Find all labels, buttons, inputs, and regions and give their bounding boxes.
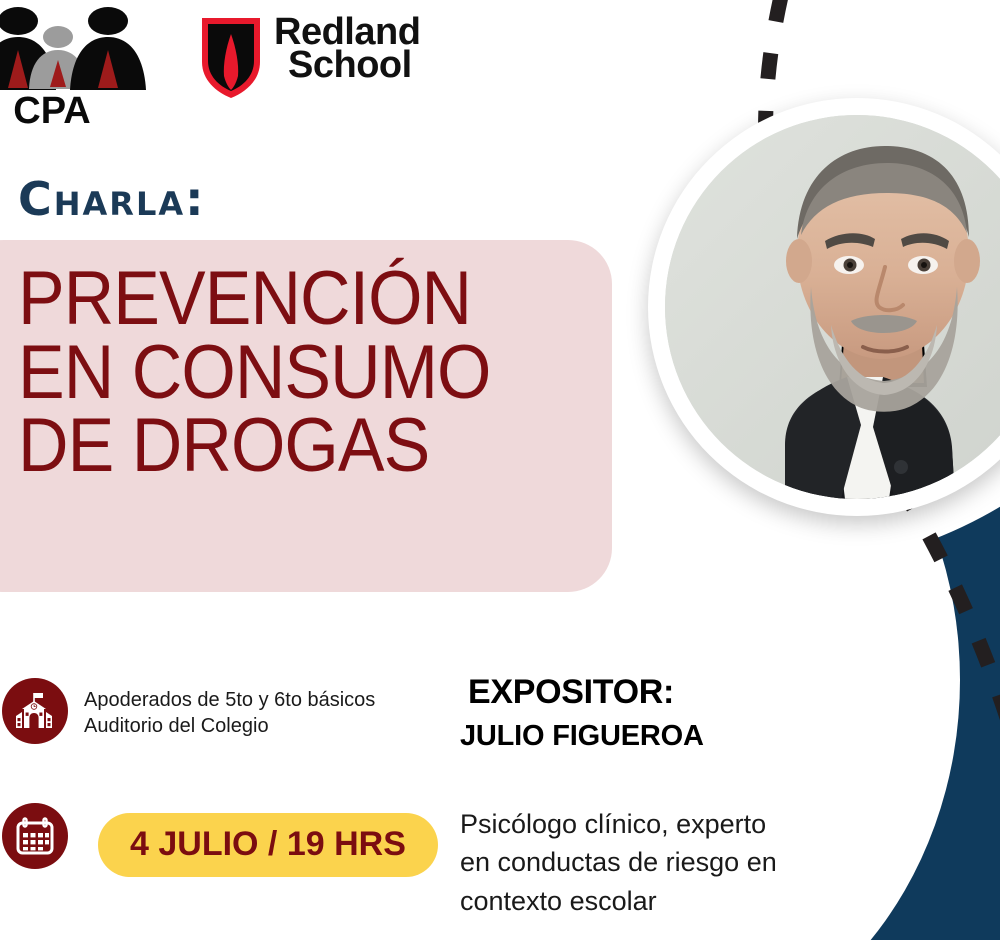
cpa-logo: CPA (0, 4, 146, 128)
redland-school-logo: Redland School (198, 14, 438, 106)
date-badge: 4 JULIO / 19 HRS (98, 813, 438, 877)
audience-line-1: Apoderados de 5to y 6to básicos (84, 687, 375, 713)
redland-line-2: School (274, 49, 420, 82)
audience-line-2: Auditorio del Colegio (84, 713, 375, 739)
avatar (665, 115, 1000, 499)
cpa-logo-label: CPA (13, 90, 90, 128)
calendar-icon (2, 803, 68, 869)
page-kicker: Charla: (18, 172, 206, 226)
shield-icon (198, 14, 264, 100)
school-icon (2, 678, 68, 744)
school-building-glyph (14, 692, 56, 730)
title-line-1: PREVENCIÓN (18, 262, 490, 336)
person-figure-right (70, 7, 146, 90)
speaker-bio: Psicólogo clínico, experto en conductas … (460, 805, 870, 920)
speaker-bio-line-1: Psicólogo clínico, experto (460, 805, 870, 843)
calendar-glyph (15, 816, 55, 856)
speaker-name: JULIO FIGUEROA (460, 720, 704, 753)
speaker-label: EXPOSITOR: (468, 673, 674, 712)
speaker-bio-line-3: contexto escolar (460, 882, 870, 920)
page-title: PREVENCIÓN EN CONSUMO DE DROGAS (18, 262, 490, 483)
audience-info: Apoderados de 5to y 6to básicos Auditori… (84, 687, 375, 740)
title-line-3: DE DROGAS (18, 409, 490, 483)
poster-root: CPA Redland School Charla: PREVENCIÓN EN… (0, 0, 1000, 940)
speaker-bio-line-2: en conductas de riesgo en (460, 843, 870, 881)
title-line-2: EN CONSUMO (18, 336, 490, 410)
speaker-portrait-illustration (665, 115, 1000, 499)
redland-school-wordmark: Redland School (274, 16, 420, 83)
